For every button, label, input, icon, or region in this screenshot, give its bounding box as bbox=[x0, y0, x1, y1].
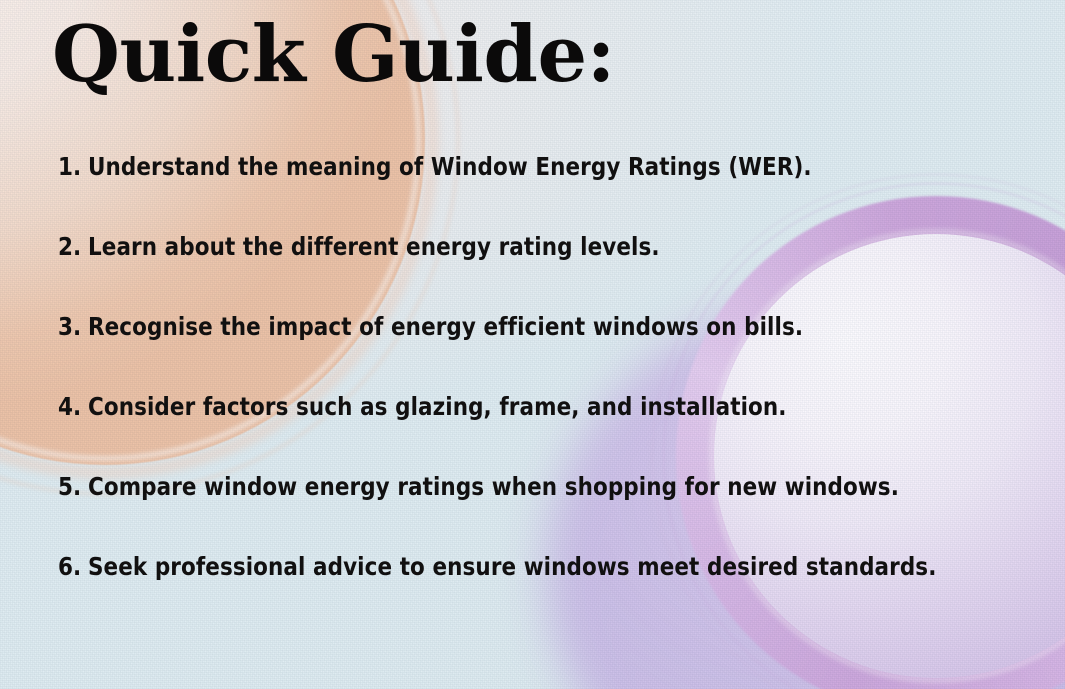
list-item-text: Understand the meaning of Window Energy … bbox=[88, 152, 812, 182]
list-item-text: Learn about the different energy rating … bbox=[88, 232, 660, 262]
list-item-number: 4. bbox=[58, 392, 81, 422]
poster-content: Quick Guide: 1. Understand the meaning o… bbox=[0, 0, 1065, 689]
page-title: Quick Guide: bbox=[52, 14, 615, 96]
quick-guide-poster: Quick Guide: 1. Understand the meaning o… bbox=[0, 0, 1065, 689]
list-item-text: Recognise the impact of energy efficient… bbox=[88, 312, 803, 342]
list-item-text: Seek professional advice to ensure windo… bbox=[88, 552, 936, 582]
list-item-number: 3. bbox=[58, 312, 81, 342]
list-item-number: 6. bbox=[58, 552, 81, 582]
list-item: 1. Understand the meaning of Window Ener… bbox=[58, 152, 981, 232]
guide-list: 1. Understand the meaning of Window Ener… bbox=[58, 152, 1025, 632]
list-item-number: 5. bbox=[58, 472, 81, 502]
list-item-number: 1. bbox=[58, 152, 81, 182]
list-item-text: Consider factors such as glazing, frame,… bbox=[88, 392, 787, 422]
list-item-text: Compare window energy ratings when shopp… bbox=[88, 472, 899, 502]
list-item: 4. Consider factors such as glazing, fra… bbox=[58, 392, 981, 472]
list-item: 3. Recognise the impact of energy effici… bbox=[58, 312, 981, 392]
list-item: 5. Compare window energy ratings when sh… bbox=[58, 472, 981, 552]
list-item-number: 2. bbox=[58, 232, 81, 262]
list-item: 2. Learn about the different energy rati… bbox=[58, 232, 981, 312]
list-item: 6. Seek professional advice to ensure wi… bbox=[58, 552, 981, 632]
